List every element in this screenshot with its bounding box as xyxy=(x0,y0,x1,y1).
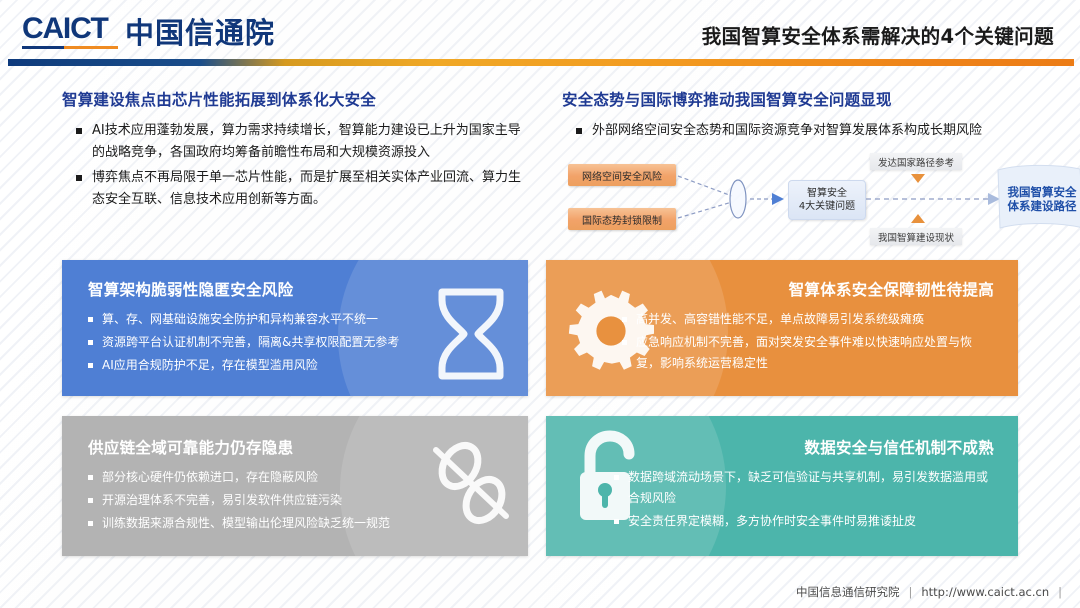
list-item: 高并发、高容错性能不足，单点故障易引发系统级瘫痪 xyxy=(622,309,994,330)
quadrant-data-security-trust[interactable]: 数据安全与信任机制不成熟 数据跨域流动场景下，缺乏可信验证与共享机制，易引发数据… xyxy=(546,416,1018,556)
quadrant-title: 智算架构脆弱性隐匿安全风险 xyxy=(88,278,498,300)
header-divider-rule xyxy=(8,59,1074,66)
bullet-text: 博弈焦点不再局限于单一芯片性能，而是扩展至相关实体产业回流、算力生态安全互联、信… xyxy=(92,167,532,211)
slide-footer: 中国信息通信研究院 | http://www.caict.ac.cn | xyxy=(796,584,1062,600)
footer-separator: | xyxy=(909,585,913,599)
diagram-output-path-flag: 我国智算安全 体系建设路径 xyxy=(996,168,1042,230)
list-item: 安全责任界定模糊，多方协作时安全事件时易推诿扯皮 xyxy=(614,511,994,532)
bullet-square-icon xyxy=(88,498,93,503)
footer-org: 中国信息通信研究院 xyxy=(796,584,900,600)
left-column-heading: 智算建设焦点由芯片性能拓展到体系化大安全 xyxy=(62,88,532,110)
right-column-heading: 安全态势与国际博弈推动我国智算安全问题显现 xyxy=(562,88,1038,110)
bullet-square-icon xyxy=(88,475,93,480)
bullet-square-icon xyxy=(88,521,93,526)
list-item: 训练数据来源合规性、模型输出伦理风险缺乏统一规范 xyxy=(88,513,492,534)
quadrant-content: 智算体系安全保障韧性待提高 高并发、高容错性能不足，单点故障易引发系统级瘫痪 应… xyxy=(622,278,994,376)
bullet-text: 算、存、网基础设施安全防护和异构兼容水平不统一 xyxy=(102,309,498,330)
diagram-connectors xyxy=(560,150,1040,250)
bullet-square-icon xyxy=(76,128,82,134)
right-column-bullets: 外部网络空间安全态势和国际资源竞争对智算发展体系构成长期风险 xyxy=(562,120,1038,142)
logo-chinese-name: 中国信通院 xyxy=(125,18,275,49)
quadrant-content: 智算架构脆弱性隐匿安全风险 算、存、网基础设施安全防护和异构兼容水平不统一 资源… xyxy=(88,278,498,378)
footer-url[interactable]: http://www.caict.ac.cn xyxy=(921,585,1049,599)
bullet-text: 资源跨平台认证机制不完善，隔离&共享权限配置无参考 xyxy=(102,332,498,353)
list-item: 部分核心硬件仍依赖进口，存在隐蔽风险 xyxy=(88,467,492,488)
bullet-text: 高并发、高容错性能不足，单点故障易引发系统级瘫痪 xyxy=(636,309,994,330)
logo-underline-rule xyxy=(22,46,118,49)
bullet-text: 开源治理体系不完善，易引发软件供应链污染 xyxy=(102,490,492,511)
quadrant-content: 供应链全域可靠能力仍存隐患 部分核心硬件仍依赖进口，存在隐蔽风险 开源治理体系不… xyxy=(88,436,492,536)
slide-header: CAICT 中国信通院 我国智算安全体系需解决的4个关键问题 xyxy=(0,0,1080,57)
quadrant-bullets: 算、存、网基础设施安全防护和异构兼容水平不统一 资源跨平台认证机制不完善，隔离&… xyxy=(88,309,498,376)
bullet-text: 部分核心硬件仍依赖进口，存在隐蔽风险 xyxy=(102,467,492,488)
bullet-square-icon xyxy=(88,317,93,322)
bullet-square-icon xyxy=(622,340,627,345)
list-item: 数据跨域流动场景下，缺乏可信验证与共享机制，易引发数据滥用或合规风险 xyxy=(614,467,994,509)
bullet-square-icon xyxy=(88,363,93,368)
list-item: 开源治理体系不完善，易引发软件供应链污染 xyxy=(88,490,492,511)
list-item: 外部网络空间安全态势和国际资源竞争对智算发展体系构成长期风险 xyxy=(562,120,1038,142)
quadrant-title: 数据安全与信任机制不成熟 xyxy=(614,436,994,458)
right-text-column: 安全态势与国际博弈推动我国智算安全问题显现 外部网络空间安全态势和国际资源竞争对… xyxy=(562,88,1038,145)
bullet-text: 应急响应机制不完善，面对突发安全事件难以快速响应处置与恢复，影响系统运营稳定性 xyxy=(636,332,994,374)
bullet-square-icon xyxy=(88,340,93,345)
bullet-square-icon xyxy=(76,175,82,181)
quadrant-title: 供应链全域可靠能力仍存隐患 xyxy=(88,436,492,458)
list-item: AI技术应用蓬勃发展，算力需求持续增长，智算能力建设已上升为国家主导的战略竞争，… xyxy=(62,120,532,164)
quadrant-content: 数据安全与信任机制不成熟 数据跨域流动场景下，缺乏可信验证与共享机制，易引发数据… xyxy=(614,436,994,534)
bullet-text: 安全责任界定模糊，多方协作时安全事件时易推诿扯皮 xyxy=(628,511,994,532)
list-item: 应急响应机制不完善，面对突发安全事件难以快速响应处置与恢复，影响系统运营稳定性 xyxy=(622,332,994,374)
caict-logo: CAICT 中国信通院 xyxy=(22,14,275,49)
page-title: 我国智算安全体系需解决的4个关键问题 xyxy=(702,20,1054,49)
list-item: 算、存、网基础设施安全防护和异构兼容水平不统一 xyxy=(88,309,498,330)
left-column-bullets: AI技术应用蓬勃发展，算力需求持续增长，智算能力建设已上升为国家主导的战略竞争，… xyxy=(62,120,532,211)
quadrant-resilience-guarantee[interactable]: 智算体系安全保障韧性待提高 高并发、高容错性能不足，单点故障易引发系统级瘫痪 应… xyxy=(546,260,1018,396)
quadrant-bullets: 高并发、高容错性能不足，单点故障易引发系统级瘫痪 应急响应机制不完善，面对突发安… xyxy=(622,309,994,374)
list-item: 博弈焦点不再局限于单一芯片性能，而是扩展至相关实体产业回流、算力生态安全互联、信… xyxy=(62,167,532,211)
footer-separator: | xyxy=(1058,585,1062,599)
bullet-square-icon xyxy=(576,128,582,134)
left-text-column: 智算建设焦点由芯片性能拓展到体系化大安全 AI技术应用蓬勃发展，算力需求持续增长… xyxy=(62,88,532,214)
logo-mark: CAICT xyxy=(22,14,118,49)
list-item: 资源跨平台认证机制不完善，隔离&共享权限配置无参考 xyxy=(88,332,498,353)
bullet-text: 数据跨域流动场景下，缺乏可信验证与共享机制，易引发数据滥用或合规风险 xyxy=(628,467,994,509)
security-flow-diagram: 网络空间安全风险 国际态势封锁限制 智算安全 4大关键问题 发达国家路径参考 我… xyxy=(560,150,1040,250)
logo-abbreviation: CAICT xyxy=(22,14,118,44)
quadrant-supply-chain[interactable]: 供应链全域可靠能力仍存隐患 部分核心硬件仍依赖进口，存在隐蔽风险 开源治理体系不… xyxy=(62,416,528,556)
quadrant-bullets: 数据跨域流动场景下，缺乏可信验证与共享机制，易引发数据滥用或合规风险 安全责任界… xyxy=(614,467,994,532)
bullet-square-icon xyxy=(614,519,619,524)
list-item: AI应用合规防护不足，存在模型滥用风险 xyxy=(88,355,498,376)
bullet-square-icon xyxy=(614,475,619,480)
bullet-square-icon xyxy=(622,317,627,322)
bullet-text: 外部网络空间安全态势和国际资源竞争对智算发展体系构成长期风险 xyxy=(592,120,1038,142)
bullet-text: AI技术应用蓬勃发展，算力需求持续增长，智算能力建设已上升为国家主导的战略竞争，… xyxy=(92,120,532,164)
quadrant-title: 智算体系安全保障韧性待提高 xyxy=(622,278,994,300)
quadrant-architecture-fragility[interactable]: 智算架构脆弱性隐匿安全风险 算、存、网基础设施安全防护和异构兼容水平不统一 资源… xyxy=(62,260,528,396)
bullet-text: 训练数据来源合规性、模型输出伦理风险缺乏统一规范 xyxy=(102,513,492,534)
bullet-text: AI应用合规防护不足，存在模型滥用风险 xyxy=(102,355,498,376)
quadrant-bullets: 部分核心硬件仍依赖进口，存在隐蔽风险 开源治理体系不完善，易引发软件供应链污染 … xyxy=(88,467,492,534)
